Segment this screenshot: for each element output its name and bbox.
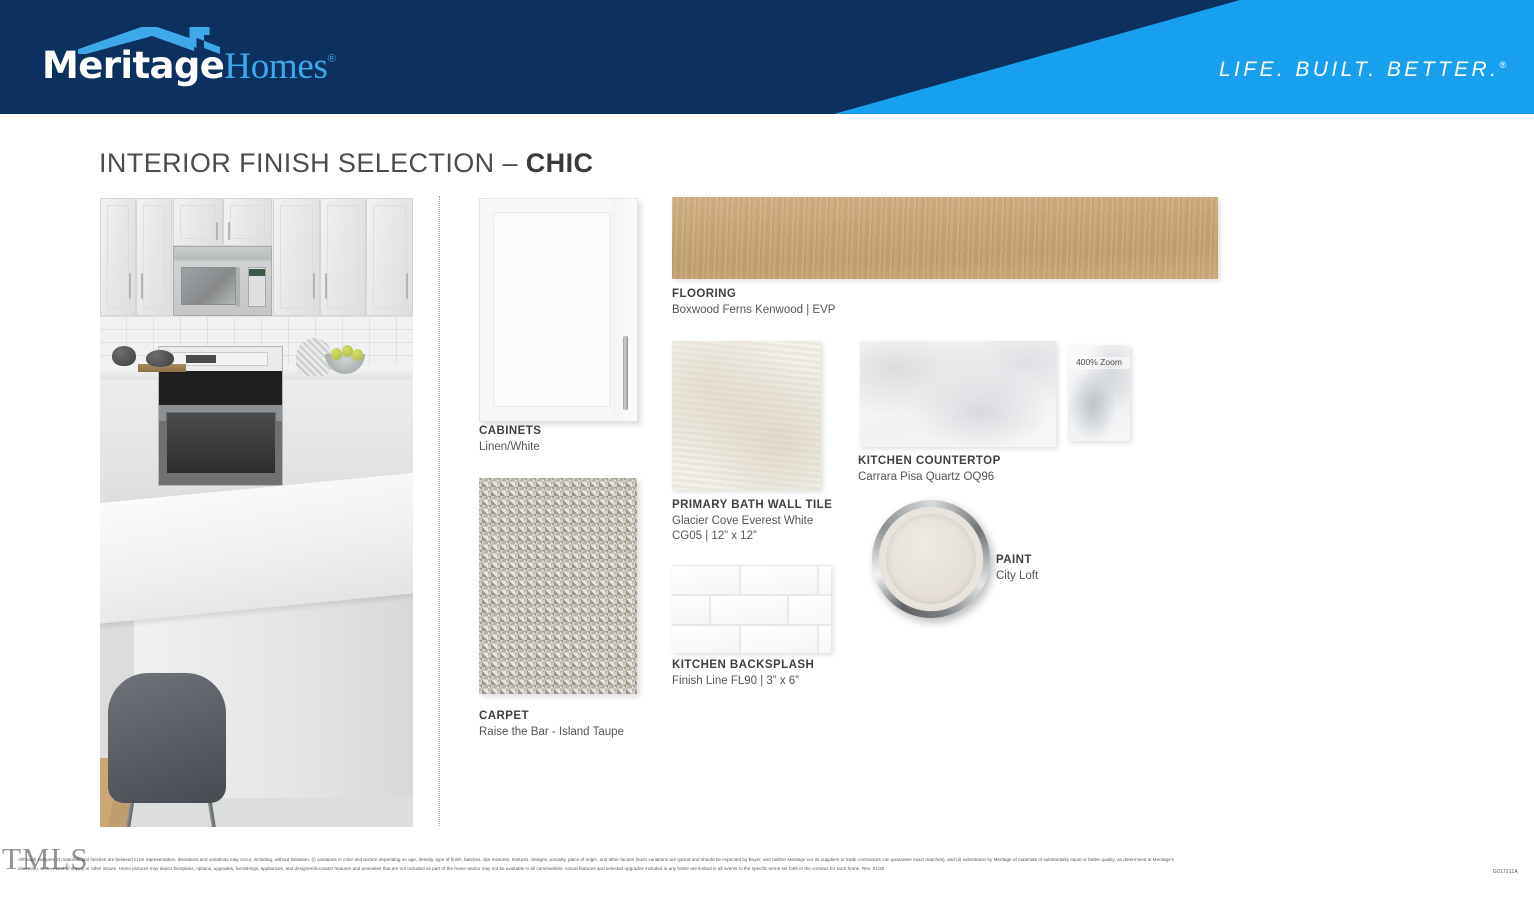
zoom-magnification-label: 400% Zoom [1068,357,1130,369]
cabinet-pull-icon [228,222,230,240]
cabinet-door-swatch [479,198,638,422]
subway-tile [740,565,818,595]
logo-registered-mark: ® [328,53,336,65]
microwave-handle [236,267,240,307]
carpet-swatch [479,478,637,694]
cabinet-pull-icon [216,222,218,240]
microwave-display [249,269,265,276]
cabinet-pull-icon [129,273,131,299]
microwave-appliance [173,246,272,316]
teapot-decor [146,350,174,367]
tagline-text: LIFE. BUILT. BETTER. [1219,58,1499,81]
bar-stool [108,673,226,803]
subway-tile [740,625,818,653]
swatch-kitchen-countertop-zoom: 400% Zoom [1068,345,1130,441]
swatch-kitchen-backsplash [672,565,831,653]
label-title: CABINETS [479,424,541,440]
label-paint: PAINT City Loft [996,553,1038,584]
label-title: FLOORING [672,287,835,303]
label-title: KITCHEN BACKSPLASH [672,658,814,674]
page-title: INTERIOR FINISH SELECTION – CHIC [99,148,593,179]
flooring-plank-swatch [672,197,1218,279]
cabinet-pull-icon [325,273,327,299]
upper-cabinets-left [100,198,172,316]
label-title: KITCHEN COUNTERTOP [858,454,1001,470]
label-primary-bath-wall-tile: PRIMARY BATH WALL TILE Glacier Cove Ever… [672,498,832,545]
label-kitchen-backsplash: KITCHEN BACKSPLASH Finish Line FL90 | 3”… [672,658,814,689]
page-title-scheme: CHIC [526,148,594,178]
label-line: Finish Line FL90 | 3” x 6” [672,674,814,690]
quartz-zoom-swatch: 400% Zoom [1068,345,1130,441]
subway-tile [788,595,831,625]
logo-wordmark: MeritageHomes® [42,47,336,85]
logo-brand-secondary: Homes [224,46,327,87]
subway-tile [672,595,710,625]
cabinet-door [136,198,172,316]
label-line: Boxwood Ferns Kenwood | EVP [672,303,835,319]
upper-cabinets-right [273,198,413,316]
label-carpet: CARPET Raise the Bar - Island Taupe [479,709,624,740]
label-flooring: FLOORING Boxwood Ferns Kenwood | EVP [672,287,835,318]
label-line: Glacier Cove Everest White [672,514,832,530]
label-cabinets: CABINETS Linen/White [479,424,541,455]
subway-tile [710,595,788,625]
cabinet-door [100,198,136,316]
cabinet-door [366,198,413,316]
page-header: MeritageHomes® LIFE. BUILT. BETTER.® [0,0,1534,114]
disclaimer-line-2: discretion, in the event of supply or ot… [18,865,1518,874]
label-title: CARPET [479,709,624,725]
range-display [186,355,216,363]
kitchen-hero-photo [100,198,413,827]
swatch-cabinets [479,198,638,422]
vertical-dotted-divider [439,196,440,826]
cabinet-bar-pull-icon [623,336,628,410]
subway-tile-swatch [672,565,831,653]
swatch-primary-bath-wall-tile [672,341,821,490]
label-line: CG05 | 12” x 12” [672,529,832,545]
subway-tile [818,565,831,595]
footer-disclaimer: Although samples of materials and finish… [18,856,1518,874]
swatch-paint [872,500,990,618]
header-tagline: LIFE. BUILT. BETTER.® [1219,58,1506,82]
logo-brand-primary: Meritage [42,44,224,87]
label-line: Raise the Bar - Island Taupe [479,725,624,741]
swatch-carpet [479,478,637,694]
swatch-flooring [672,197,1218,279]
cabinet-door [173,198,223,246]
cabinet-door [223,198,273,246]
label-line: Linen/White [479,440,541,456]
swatch-kitchen-countertop [860,341,1056,447]
label-line: Carrara Pisa Quartz OQ96 [858,470,1001,486]
quartz-countertop-swatch [860,341,1056,447]
cabinet-door [273,198,320,316]
microwave-window [181,267,236,305]
label-line: City Loft [996,569,1038,585]
teapot-decor [112,346,136,366]
subway-tile [672,625,740,653]
label-title: PRIMARY BATH WALL TILE [672,498,832,514]
meritage-homes-logo: MeritageHomes® [42,27,352,89]
label-kitchen-countertop: KITCHEN COUNTERTOP Carrara Pisa Quartz O… [858,454,1001,485]
label-title: PAINT [996,553,1038,569]
finish-selection-page: MeritageHomes® LIFE. BUILT. BETTER.® INT… [0,0,1534,900]
cabinet-pull-icon [313,273,315,299]
header-diagonal-accent [834,0,1534,114]
range-oven-door [166,412,276,474]
paint-can-lid-swatch [872,500,990,618]
page-title-prefix: INTERIOR FINISH SELECTION – [99,148,526,178]
tagline-registered-mark: ® [1499,60,1506,70]
cabinet-pull-icon [406,273,408,299]
fruit-decor [331,348,342,360]
tmls-watermark: TMLS [2,843,89,874]
disclaimer-line-1: Although samples of materials and finish… [18,856,1518,865]
upper-cabinets-center [173,198,272,246]
fruit-decor [352,349,363,361]
subway-tile [818,625,831,653]
cabinet-door [320,198,367,316]
cabinet-pull-icon [141,273,143,299]
bath-tile-swatch [672,341,821,490]
document-code: G017211A [1493,869,1518,875]
subway-tile [672,565,740,595]
cabinet-door-panel [493,212,611,407]
